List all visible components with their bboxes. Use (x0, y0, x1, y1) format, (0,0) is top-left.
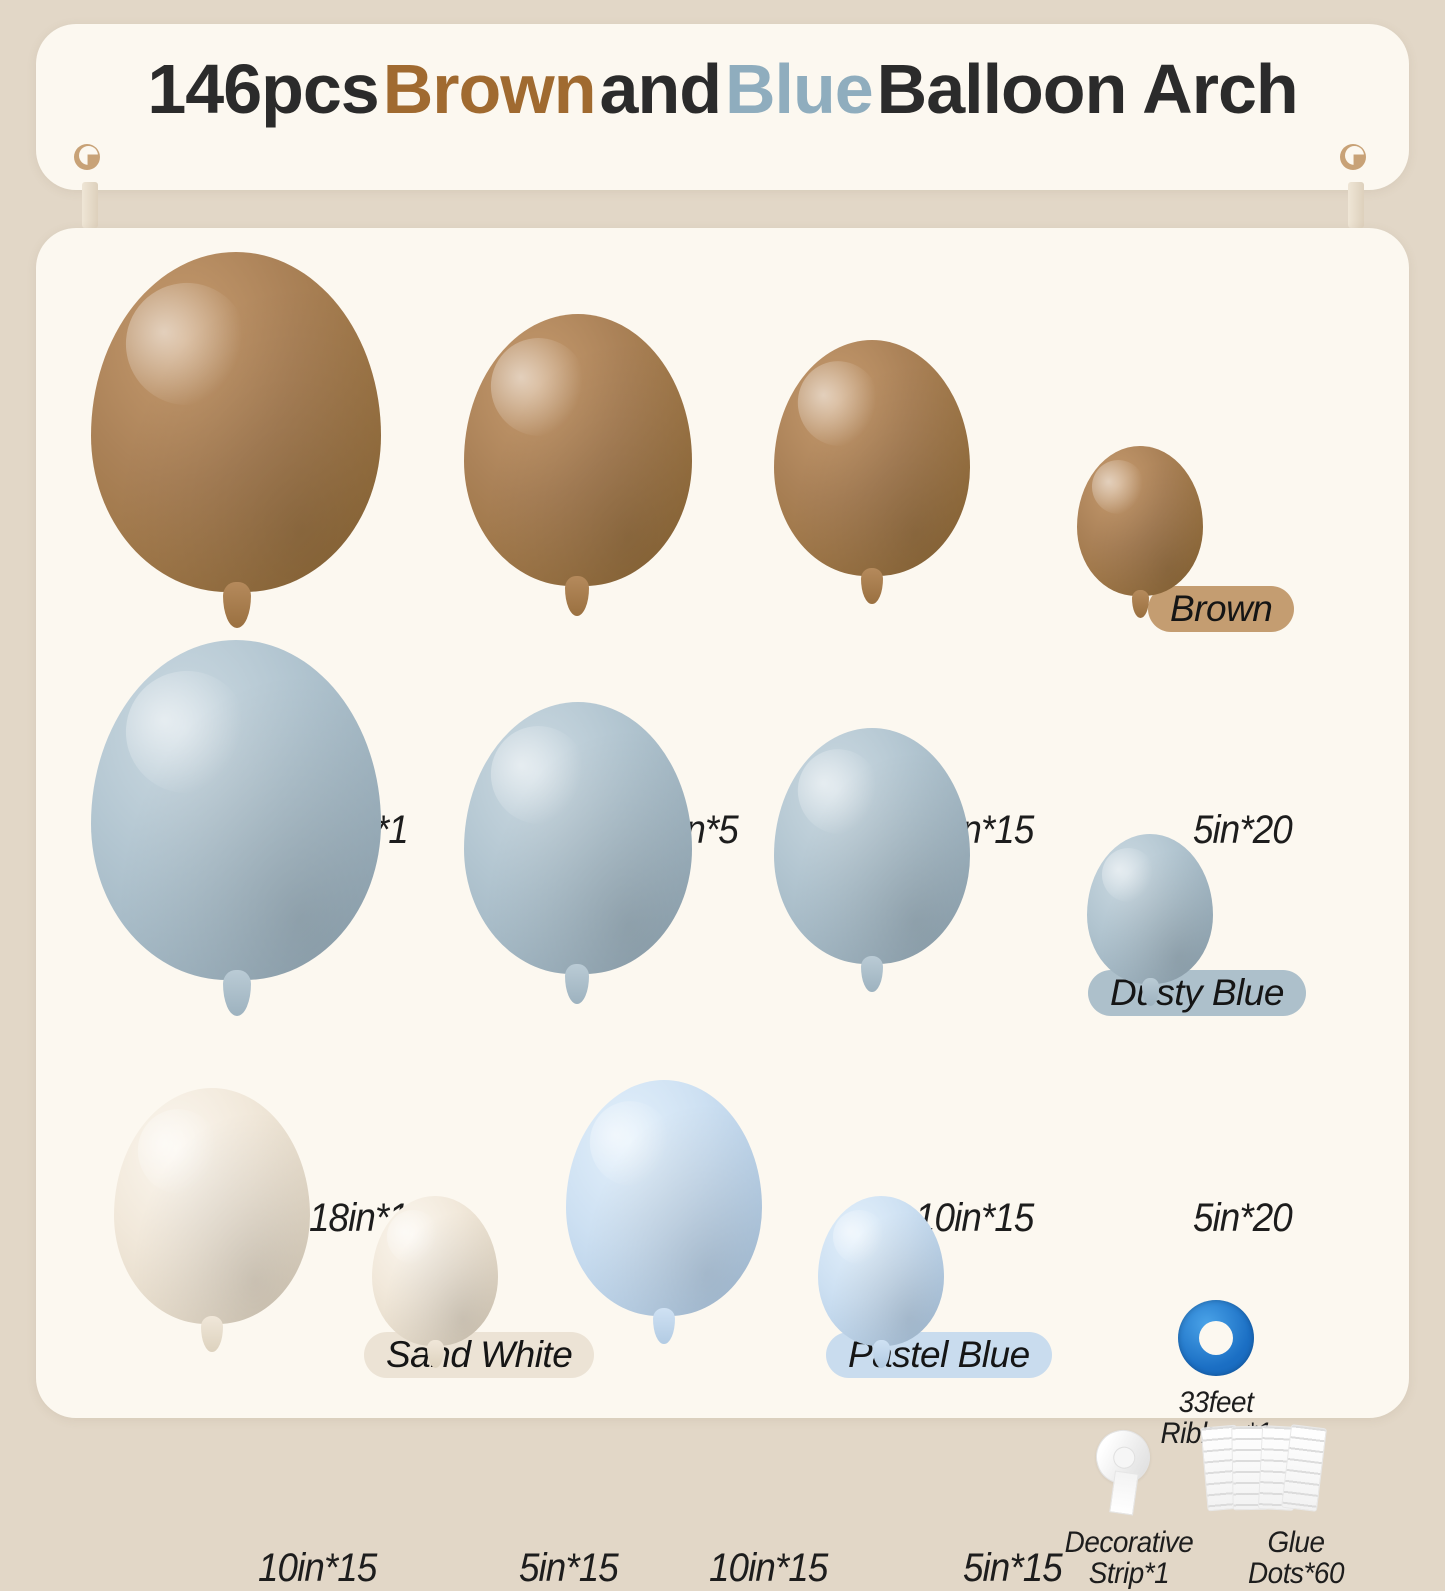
card-connector-right (1348, 182, 1364, 228)
balloon-knot (223, 582, 251, 628)
balloon-shape (464, 314, 692, 586)
size-label-sand-white-10in: 10in*15 (258, 1546, 376, 1591)
balloon-shape (114, 1088, 310, 1324)
balloon-pastel-blue-10in (566, 1080, 762, 1330)
balloon-shape (566, 1080, 762, 1316)
balloon-dusty-blue-10in (774, 728, 970, 978)
balloon-brown-12in (464, 314, 692, 604)
balloon-knot (1132, 590, 1149, 618)
decorative-strip-label: Decorative Strip*1 (1050, 1528, 1208, 1589)
balloon-dusty-blue-5in (1087, 834, 1213, 994)
balloon-knot (223, 970, 251, 1016)
contents-card: Brown 18in*1 12in*5 10in*15 5in*20 Dusty… (36, 228, 1409, 1418)
punch-hole-top-left (74, 144, 100, 170)
glue-dots-icon (1204, 1426, 1324, 1512)
card-connector-left (82, 182, 98, 228)
balloon-knot (565, 964, 589, 1004)
title-card: 146pcs Brown and Blue Balloon Arch (36, 24, 1409, 190)
balloon-pastel-blue-5in (818, 1196, 944, 1356)
size-label-pastel-blue-10in: 10in*15 (709, 1546, 827, 1591)
balloon-shape (464, 702, 692, 974)
ribbon-icon (1178, 1300, 1254, 1376)
balloon-shape (774, 340, 970, 576)
glue-dots-label: Glue Dots*60 (1222, 1528, 1371, 1589)
balloon-knot (653, 1308, 675, 1344)
title-part-product: Balloon Arch (875, 49, 1300, 129)
title-part-blue: Blue (723, 49, 875, 129)
balloon-knot (861, 956, 883, 992)
balloon-shape (91, 252, 381, 592)
decorative-strip-icon (1090, 1428, 1160, 1514)
balloon-brown-10in (774, 340, 970, 590)
balloon-shape (774, 728, 970, 964)
balloon-shape (1087, 834, 1213, 984)
size-label-dusty-blue-5in: 5in*20 (1193, 1196, 1292, 1241)
balloon-dusty-blue-12in (464, 702, 692, 992)
title-part-brown: Brown (381, 49, 598, 129)
balloon-shape (91, 640, 381, 980)
balloon-knot (861, 568, 883, 604)
title-part-and: and (598, 49, 723, 129)
balloon-shape (1077, 446, 1203, 596)
balloon-knot (201, 1316, 223, 1352)
balloon-brown-5in (1077, 446, 1203, 606)
size-label-sand-white-5in: 5in*15 (519, 1546, 618, 1591)
balloon-knot (565, 576, 589, 616)
balloon-dusty-blue-18in (91, 640, 381, 1000)
balloon-sand-white-10in (114, 1088, 310, 1338)
balloon-shape (818, 1196, 944, 1346)
balloon-shape (372, 1196, 498, 1346)
page-title: 146pcs Brown and Blue Balloon Arch (36, 24, 1409, 154)
balloon-sand-white-5in (372, 1196, 498, 1356)
size-label-pastel-blue-5in: 5in*15 (963, 1546, 1062, 1591)
title-part-count: 146pcs (145, 49, 380, 129)
punch-hole-top-right (1340, 144, 1366, 170)
balloon-brown-18in (91, 252, 381, 612)
